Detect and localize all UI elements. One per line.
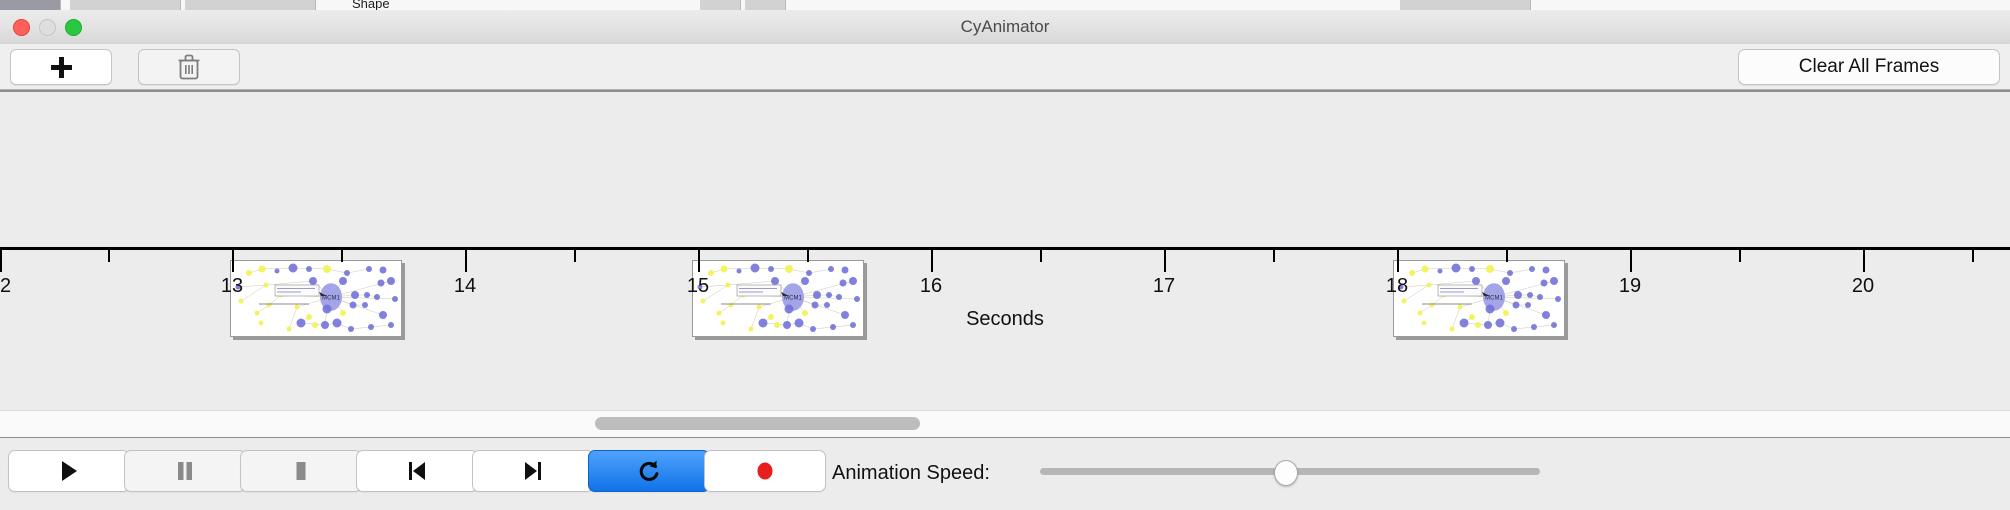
tick-major: [232, 250, 234, 272]
tick-minor: [1040, 250, 1042, 262]
tick-major: [0, 250, 2, 272]
scrollbar-thumb[interactable]: [595, 417, 920, 430]
playback-controls: Animation Speed:: [0, 438, 2010, 510]
stop-button[interactable]: [240, 450, 362, 492]
tick-minor: [108, 250, 110, 262]
bg-partial-label: Shape: [352, 0, 390, 10]
trash-icon: [177, 54, 201, 80]
tick-label: 14: [435, 275, 495, 298]
svg-text:MCM1: MCM1: [784, 296, 802, 302]
tick-minor: [341, 250, 343, 262]
skip-start-button[interactable]: [356, 450, 478, 492]
loop-button[interactable]: [588, 450, 710, 492]
pause-button[interactable]: [124, 450, 246, 492]
svg-text:MCM1: MCM1: [322, 296, 340, 302]
tick-major: [698, 250, 700, 272]
tick-label: 18: [1367, 275, 1427, 298]
skip-end-icon: [522, 459, 544, 483]
tick-minor: [1739, 250, 1741, 262]
timeline-scrollbar[interactable]: [0, 410, 2010, 439]
tick-major: [465, 250, 467, 272]
tick-label: 16: [901, 275, 961, 298]
tick-major: [1863, 250, 1865, 272]
timeline-axis: [0, 247, 2010, 250]
play-button[interactable]: [8, 450, 130, 492]
toolbar: Clear All Frames: [0, 44, 2010, 90]
animation-speed-thumb[interactable]: [1274, 460, 1298, 486]
svg-text:MCM1: MCM1: [1485, 296, 1503, 302]
record-icon: [753, 458, 777, 484]
titlebar: CyAnimator: [0, 10, 2010, 45]
bg-chip: [700, 0, 741, 10]
tick-minor: [574, 250, 576, 262]
axis-title: Seconds: [0, 308, 2010, 331]
clear-all-frames-button[interactable]: Clear All Frames: [1738, 49, 2000, 85]
plus-icon: [51, 57, 72, 78]
cyanimator-window: Shape CyAnimator Clear All Frames MCM1MC…: [0, 0, 2010, 510]
tick-major: [931, 250, 933, 272]
play-icon: [58, 459, 80, 483]
skip-start-icon: [406, 459, 428, 483]
delete-frame-button[interactable]: [138, 49, 240, 85]
tick-minor: [1972, 250, 1974, 262]
tick-label: 15: [668, 275, 728, 298]
loop-icon: [637, 458, 661, 484]
bg-chip: [70, 0, 181, 10]
tick-label: 19: [1600, 275, 1660, 298]
bg-chip: [0, 0, 61, 10]
stop-icon: [290, 459, 312, 483]
bg-chip: [1400, 0, 1531, 10]
background-strip: Shape: [0, 0, 2010, 10]
timeline-panel[interactable]: MCM1MCM1MCM1 121314151617181920 Seconds: [0, 90, 2010, 412]
skip-end-button[interactable]: [472, 450, 594, 492]
tick-label: 13: [202, 275, 262, 298]
bg-chip: [185, 0, 316, 10]
window-title: CyAnimator: [0, 10, 2010, 44]
tick-label: 12: [0, 275, 30, 298]
tick-minor: [807, 250, 809, 262]
tick-major: [1164, 250, 1166, 272]
bg-chip: [745, 0, 786, 10]
tick-label: 20: [1833, 275, 1893, 298]
tick-major: [1397, 250, 1399, 272]
animation-speed-label: Animation Speed:: [832, 462, 990, 485]
tick-minor: [1506, 250, 1508, 262]
tick-major: [1630, 250, 1632, 272]
pause-icon: [174, 459, 196, 483]
tick-label: 17: [1134, 275, 1194, 298]
record-button[interactable]: [704, 450, 826, 492]
tick-minor: [1273, 250, 1275, 262]
add-frame-button[interactable]: [10, 49, 112, 85]
